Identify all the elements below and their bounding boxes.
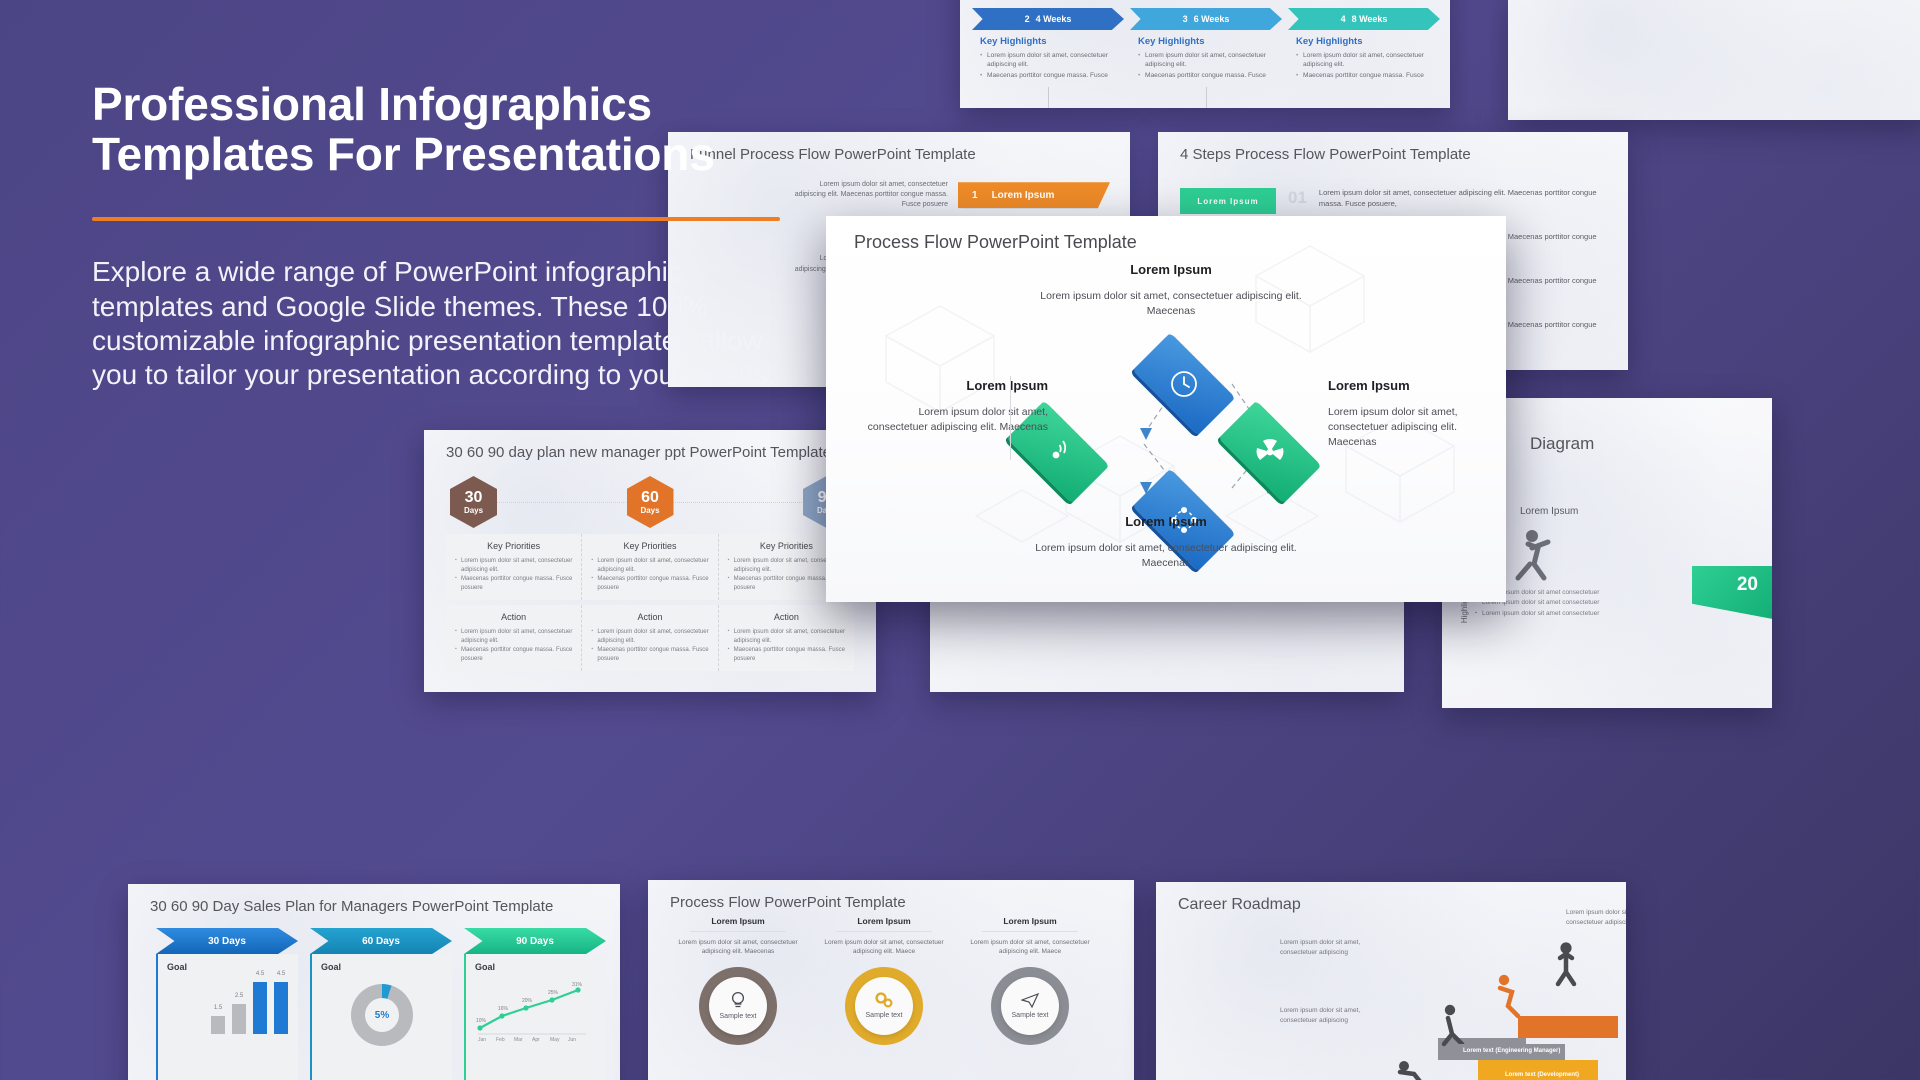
list-item: Maecenas porttitor congue massa. Fusce p… bbox=[455, 575, 572, 593]
divider bbox=[982, 931, 1078, 932]
process-circle-columns: Lorem Ipsum Lorem ipsum dolor sit amet, … bbox=[676, 916, 1092, 1045]
step-number: 01 bbox=[1288, 188, 1307, 208]
plan-band-key-priorities: Key Priorities Lorem ipsum dolor sit ame… bbox=[446, 534, 854, 600]
cell-heading: Action bbox=[455, 612, 572, 622]
key-highlights-heading: Key Highlights bbox=[1296, 36, 1432, 47]
cell-list: Lorem ipsum dolor sit amet, consectetuer… bbox=[728, 628, 845, 664]
table-cell[interactable]: Action Lorem ipsum dolor sit amet, conse… bbox=[446, 605, 582, 671]
card-title: Career Roadmap bbox=[1178, 896, 1301, 914]
page-canvas: Professional Infographics Templates For … bbox=[0, 0, 1920, 1080]
label-divider bbox=[1010, 376, 1011, 460]
milestone-number: 30 bbox=[465, 490, 483, 506]
list-item: Maecenas porttitor congue massa. Fusce p… bbox=[455, 646, 572, 664]
ring-caption: Sample text bbox=[720, 1013, 757, 1020]
key-highlights-list: Lorem ipsum dolor sit amet, consectetuer… bbox=[1296, 51, 1432, 81]
milestone-number: 60 bbox=[641, 490, 659, 506]
table-cell[interactable]: Key Priorities Lorem ipsum dolor sit ame… bbox=[446, 534, 582, 600]
title-divider bbox=[92, 217, 780, 221]
key-highlights-body: Key Highlights Lorem ipsum dolor sit ame… bbox=[1288, 30, 1440, 87]
list-item: Lorem ipsum dolor sit amet, consectetuer… bbox=[980, 51, 1116, 69]
card-process-flow-center[interactable]: Process Flow PowerPoint Template bbox=[826, 216, 1506, 602]
page-title-line-2: Templates For Presentations bbox=[92, 128, 715, 180]
column-heading: Lorem Ipsum bbox=[968, 916, 1092, 926]
column-text: Lorem ipsum dolor sit amet, consectetuer… bbox=[822, 938, 946, 957]
label-text: Lorem ipsum dolor sit amet, consectetuer… bbox=[856, 405, 1048, 435]
cell-list: Lorem ipsum dolor sit amet, consectetuer… bbox=[455, 557, 572, 593]
flow-label-right: Lorem Ipsum Lorem ipsum dolor sit amet, … bbox=[1328, 378, 1500, 451]
step-tag: Lorem Ipsum bbox=[1180, 188, 1276, 214]
cell-heading: Action bbox=[591, 612, 708, 622]
key-highlights-columns: 2 4 Weeks Key Highlights Lorem ipsum dol… bbox=[972, 8, 1440, 108]
person-running-icon bbox=[1499, 975, 1518, 1016]
list-item: Lorem ipsum dolor sit amet, consectetuer… bbox=[455, 628, 572, 646]
bar-label: 1.5 bbox=[214, 1005, 222, 1011]
gears-icon bbox=[875, 992, 893, 1008]
goal-label: Goal bbox=[321, 962, 443, 972]
person-walking-icon bbox=[1444, 1005, 1462, 1044]
key-highlights-list: Lorem ipsum dolor sit amet, consectetuer… bbox=[980, 51, 1116, 81]
flow-node-top[interactable] bbox=[1138, 338, 1230, 430]
card-sales-plan[interactable]: 30 60 90 Day Sales Plan for Managers Pow… bbox=[128, 884, 620, 1080]
goal-label: Goal bbox=[167, 962, 289, 972]
divider bbox=[836, 931, 932, 932]
phase-panel: Goal 10% 16% 20% 25% 31% Jan Feb bbox=[464, 954, 606, 1080]
list-item: Maecenas porttitor congue massa. Fusce p… bbox=[591, 646, 708, 664]
step-chevron: 2 4 Weeks bbox=[972, 8, 1124, 30]
connector-stem bbox=[1048, 87, 1049, 108]
line-chart: 10% 16% 20% 25% 31% Jan Feb Mar Apr May … bbox=[474, 980, 590, 1042]
bulb-icon bbox=[730, 991, 746, 1009]
roadmap-note: Lorem ipsum dolor sit amet, consectetuer… bbox=[1280, 938, 1368, 958]
flow-label-bottom: Lorem Ipsum Lorem ipsum dolor sit amet, … bbox=[1016, 514, 1316, 571]
svg-text:10%: 10% bbox=[476, 1018, 487, 1024]
ring-inner: Sample text bbox=[855, 977, 913, 1035]
funnel-row-number: 1 bbox=[972, 190, 978, 201]
cell-heading: Key Priorities bbox=[455, 541, 572, 551]
table-cell[interactable]: Key Priorities Lorem ipsum dolor sit ame… bbox=[582, 534, 718, 600]
list-item: Maecenas porttitor congue massa. Fusce p… bbox=[591, 575, 708, 593]
milestone-unit: Days bbox=[640, 506, 659, 515]
milestone-hex[interactable]: 60 Days bbox=[627, 476, 674, 528]
ring-caption: Sample text bbox=[866, 1012, 903, 1019]
card-background bbox=[1508, 0, 1920, 120]
flow-label-top: Lorem Ipsum Lorem ipsum dolor sit amet, … bbox=[1026, 262, 1316, 319]
key-highlights-body: Key Highlights Lorem ipsum dolor sit ame… bbox=[972, 30, 1124, 87]
ring-caption: Sample text bbox=[1012, 1012, 1049, 1019]
key-highlights-heading: Key Highlights bbox=[1138, 36, 1274, 47]
bar-label: 4.5 bbox=[277, 971, 285, 977]
label-text: Lorem ipsum dolor sit amet, consectetuer… bbox=[1016, 541, 1316, 571]
step-text: Lorem ipsum dolor sit amet, consectetuer… bbox=[1319, 188, 1619, 210]
list-item: Lorem ipsum dolor sit amet, consectetuer… bbox=[1296, 51, 1432, 69]
person-celebrating-icon bbox=[1558, 942, 1574, 984]
donut-value: 5% bbox=[365, 998, 399, 1032]
label-text: Lorem ipsum dolor sit amet, consectetuer… bbox=[1026, 289, 1316, 319]
ring-inner: Sample text bbox=[1001, 977, 1059, 1035]
column-text: Lorem ipsum dolor sit amet, consectetuer… bbox=[968, 938, 1092, 957]
key-highlights-heading: Key Highlights bbox=[980, 36, 1116, 47]
phase-arrow: 90 Days bbox=[464, 928, 606, 954]
sales-plan-columns: 30 Days Goal 1.5 2.5 4.5 4.5 Maintain th… bbox=[156, 928, 606, 1080]
donut-chart: 5% bbox=[351, 984, 413, 1046]
svg-text:May: May bbox=[550, 1037, 560, 1042]
list-item: Maecenas porttitor congue massa. Fusce p… bbox=[728, 646, 845, 664]
paper-plane-icon bbox=[1021, 992, 1039, 1008]
divider bbox=[690, 931, 786, 932]
page-title: Professional Infographics Templates For … bbox=[92, 80, 792, 179]
roadmap-step-label[interactable]: Lorem text (Engineering Manager) bbox=[1458, 1044, 1565, 1060]
milestone-unit: Days bbox=[464, 506, 483, 515]
process-circle-column[interactable]: Lorem Ipsum Lorem ipsum dolor sit amet, … bbox=[676, 916, 800, 1045]
process-ring: Sample text bbox=[699, 967, 777, 1045]
person-crawling-icon bbox=[1399, 1061, 1422, 1080]
phase-panel: Goal 1.5 2.5 4.5 4.5 Maintain the team's… bbox=[156, 954, 298, 1080]
bar: 2.5 bbox=[232, 1004, 246, 1034]
hero-block: Professional Infographics Templates For … bbox=[92, 80, 792, 392]
card-title: 4 Steps Process Flow PowerPoint Template bbox=[1180, 146, 1471, 163]
diagram-badge: 20 bbox=[1737, 574, 1758, 596]
list-item: Lorem ipsum dolor sit amet, consectetuer… bbox=[1138, 51, 1274, 69]
flow-label-left: Lorem Ipsum Lorem ipsum dolor sit amet, … bbox=[856, 378, 1048, 435]
funnel-row-text: Lorem ipsum dolor sit amet, consectetuer… bbox=[788, 180, 948, 210]
step-number: 2 bbox=[1025, 14, 1030, 24]
milestone-row: 30 Days 60 Days 90 Days bbox=[450, 476, 850, 528]
card-process-flow-circles[interactable]: Process Flow PowerPoint Template Lorem I… bbox=[648, 880, 1134, 1080]
connector-stem bbox=[1206, 87, 1207, 108]
bar: 1.5 bbox=[211, 1016, 225, 1034]
key-highlights-body: Key Highlights Lorem ipsum dolor sit ame… bbox=[1130, 30, 1282, 87]
bar-label: 2.5 bbox=[235, 993, 243, 999]
list-item: Maecenas porttitor congue massa. Fusce bbox=[1296, 71, 1432, 80]
phase-panel: Goal 5% Win one or 2 client deals. Incre… bbox=[310, 954, 452, 1080]
cell-list: Lorem ipsum dolor sit amet, consectetuer… bbox=[455, 628, 572, 664]
list-item: Maecenas porttitor congue massa. Fusce bbox=[980, 71, 1116, 80]
roadmap-note: Lorem ipsum dolor sit amet, consectetuer… bbox=[1280, 1006, 1368, 1026]
sales-plan-column[interactable]: 30 Days Goal 1.5 2.5 4.5 4.5 Maintain th… bbox=[156, 928, 298, 1080]
flow-node-right[interactable] bbox=[1224, 406, 1316, 498]
list-item: Lorem ipsum dolor sit amet, consectetuer… bbox=[591, 557, 708, 575]
process-circle-column[interactable]: Lorem Ipsum Lorem ipsum dolor sit amet, … bbox=[968, 916, 1092, 1045]
svg-text:Jun: Jun bbox=[568, 1037, 576, 1042]
list-item: Lorem ipsum dolor sit amet consectetuer bbox=[1475, 609, 1599, 619]
card-title: Process Flow PowerPoint Template bbox=[670, 894, 906, 911]
ring-inner: Sample text bbox=[709, 977, 767, 1035]
process-circle-column[interactable]: Lorem Ipsum Lorem ipsum dolor sit amet, … bbox=[822, 916, 946, 1045]
label-heading: Lorem Ipsum bbox=[856, 378, 1048, 393]
bar-label: 4.5 bbox=[256, 971, 264, 977]
key-highlights-column[interactable]: 2 4 Weeks Key Highlights Lorem ipsum dol… bbox=[972, 8, 1124, 108]
table-cell[interactable]: Action Lorem ipsum dolor sit amet, conse… bbox=[719, 605, 854, 671]
svg-text:20%: 20% bbox=[522, 998, 533, 1004]
step-chevron: 4 8 Weeks bbox=[1288, 8, 1440, 30]
cell-heading: Key Priorities bbox=[591, 541, 708, 551]
bar-chart: 1.5 2.5 4.5 4.5 bbox=[211, 976, 288, 1034]
list-item: Lorem ipsum dolor sit amet, consectetuer… bbox=[591, 628, 708, 646]
card-30-60-90-day-plan[interactable]: 30 60 90 day plan new manager ppt PowerP… bbox=[424, 430, 876, 692]
table-cell[interactable]: Action Lorem ipsum dolor sit amet, conse… bbox=[582, 605, 718, 671]
process-ring: Sample text bbox=[991, 967, 1069, 1045]
roadmap-step-label[interactable]: Lorem text (Development) bbox=[1500, 1068, 1584, 1080]
svg-text:25%: 25% bbox=[548, 990, 559, 996]
svg-text:16%: 16% bbox=[498, 1006, 509, 1012]
label-heading: Lorem Ipsum bbox=[1328, 378, 1500, 393]
card-road-illustration[interactable]: Lorem ipsum bbox=[1508, 0, 1920, 120]
list-item: Maecenas porttitor congue massa. Fusce bbox=[1138, 71, 1274, 80]
step-number: 4 bbox=[1341, 14, 1346, 24]
cell-list: Lorem ipsum dolor sit amet, consectetuer… bbox=[591, 628, 708, 664]
card-title: 30 60 90 Day Sales Plan for Managers Pow… bbox=[150, 898, 553, 915]
roadmap-note: Lorem ipsum dolor sit amet, consectetuer… bbox=[1566, 908, 1626, 928]
plan-grid: Key Priorities Lorem ipsum dolor sit ame… bbox=[446, 534, 854, 676]
bar: 4.5 bbox=[253, 982, 267, 1034]
clock-icon bbox=[1138, 338, 1230, 430]
label-heading: Lorem Ipsum bbox=[1026, 262, 1316, 277]
card-key-highlights[interactable]: 2 4 Weeks Key Highlights Lorem ipsum dol… bbox=[960, 0, 1450, 108]
svg-text:Feb: Feb bbox=[496, 1037, 505, 1042]
cell-heading: Action bbox=[728, 612, 845, 622]
label-text: Lorem ipsum dolor sit amet, consectetuer… bbox=[1328, 405, 1500, 451]
card-title: 30 60 90 day plan new manager ppt PowerP… bbox=[446, 444, 831, 461]
step-number: 3 bbox=[1183, 14, 1188, 24]
bar: 4.5 bbox=[274, 982, 288, 1034]
funnel-row[interactable]: Lorem ipsum dolor sit amet, consectetuer… bbox=[788, 180, 1110, 210]
column-heading: Lorem Ipsum bbox=[676, 916, 800, 926]
step-label: 6 Weeks bbox=[1194, 14, 1230, 24]
milestone-hex[interactable]: 30 Days bbox=[450, 476, 497, 528]
step-label: 4 Weeks bbox=[1036, 14, 1072, 24]
funnel-band: 1 Lorem Ipsum bbox=[958, 182, 1110, 208]
step-row[interactable]: Lorem Ipsum 01 Lorem ipsum dolor sit ame… bbox=[1180, 188, 1619, 214]
diagram-subtitle: Lorem Ipsum bbox=[1520, 506, 1578, 517]
radiation-icon bbox=[1224, 406, 1316, 498]
list-item: Lorem ipsum dolor sit amet, consectetuer… bbox=[728, 628, 845, 646]
goal-label: Goal bbox=[475, 962, 597, 972]
cell-list: Lorem ipsum dolor sit amet, consectetuer… bbox=[591, 557, 708, 593]
page-title-line-1: Professional Infographics bbox=[92, 78, 652, 130]
list-item: Lorem ipsum dolor sit amet, consectetuer… bbox=[455, 557, 572, 575]
person-running-icon bbox=[1502, 524, 1622, 594]
card-career-roadmap[interactable]: Career Roadmap Lorem ipsum dolor sit ame… bbox=[1156, 882, 1626, 1080]
sales-plan-column[interactable]: 90 Days Goal 10% 16% 20% 25% 31% bbox=[464, 928, 606, 1080]
hero-description: Explore a wide range of PowerPoint infog… bbox=[92, 255, 792, 392]
step-chevron: 3 6 Weeks bbox=[1130, 8, 1282, 30]
plan-band-action: Action Lorem ipsum dolor sit amet, conse… bbox=[446, 605, 854, 671]
key-highlights-list: Lorem ipsum dolor sit amet, consectetuer… bbox=[1138, 51, 1274, 81]
phase-arrow: 30 Days bbox=[156, 928, 298, 954]
column-text: Lorem ipsum dolor sit amet, consectetuer… bbox=[676, 938, 800, 957]
svg-text:31%: 31% bbox=[572, 982, 583, 988]
sales-plan-column[interactable]: 60 Days Goal 5% Win one or 2 client deal… bbox=[310, 928, 452, 1080]
key-highlights-column[interactable]: 4 8 Weeks Key Highlights Lorem ipsum dol… bbox=[1288, 8, 1440, 108]
funnel-row-label: Lorem Ipsum bbox=[992, 190, 1055, 201]
key-highlights-column[interactable]: 3 6 Weeks Key Highlights Lorem ipsum dol… bbox=[1130, 8, 1282, 108]
column-heading: Lorem Ipsum bbox=[822, 916, 946, 926]
phase-arrow: 60 Days bbox=[310, 928, 452, 954]
step-label: 8 Weeks bbox=[1352, 14, 1388, 24]
card-title: Diagram bbox=[1530, 434, 1594, 454]
label-heading: Lorem Ipsum bbox=[1016, 514, 1316, 529]
svg-text:Jan: Jan bbox=[478, 1037, 486, 1042]
svg-text:Apr: Apr bbox=[532, 1037, 540, 1042]
svg-text:Mar: Mar bbox=[514, 1037, 523, 1042]
process-ring: Sample text bbox=[845, 967, 923, 1045]
